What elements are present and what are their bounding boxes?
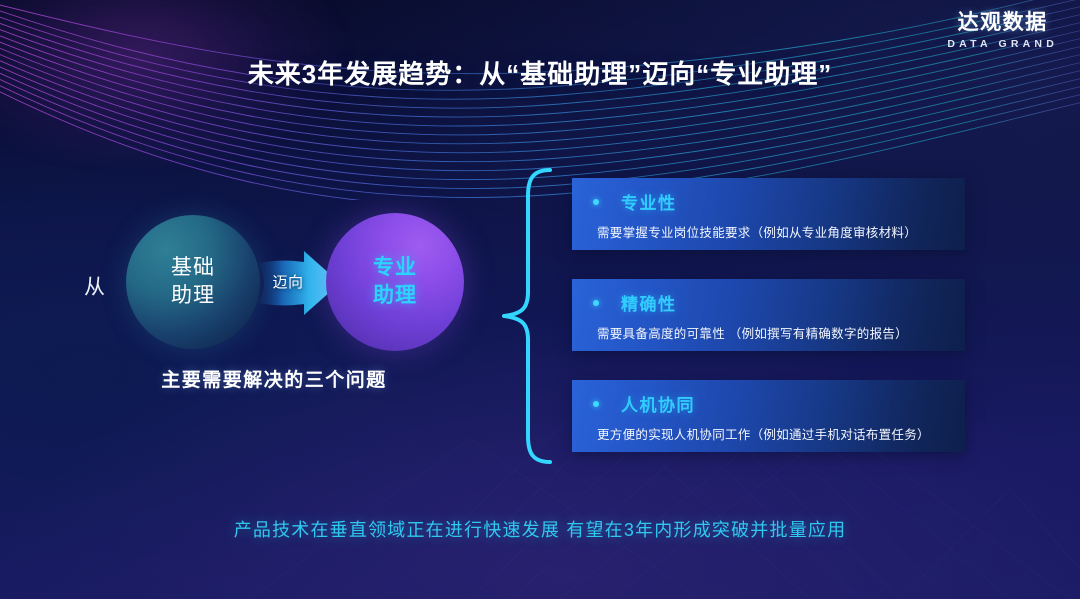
bullet-icon bbox=[593, 199, 599, 205]
card-header: 专业性 bbox=[586, 189, 949, 214]
curly-brace-icon bbox=[498, 166, 556, 466]
from-label: 从 bbox=[84, 271, 106, 301]
brand-logo: 达观数据 DATA GRAND bbox=[947, 12, 1058, 50]
transition-diagram: 从 基础 助理 迈向 专业 助理 bbox=[60, 215, 500, 405]
circle-pro-line1: 专业 bbox=[373, 254, 417, 282]
circle-basic-assistant: 基础 助理 bbox=[126, 215, 260, 349]
diagram-caption: 主要需要解决的三个问题 bbox=[104, 365, 444, 392]
feature-card[interactable]: 精确性 需要具备高度的可靠性 （例如撰写有精确数字的报告） bbox=[572, 279, 965, 351]
circle-basic-line2: 助理 bbox=[171, 282, 215, 310]
feature-card[interactable]: 专业性 需要掌握专业岗位技能要求（例如从专业角度审核材料） bbox=[572, 178, 965, 250]
logo-text-cn: 达观数据 bbox=[947, 12, 1058, 33]
feature-card[interactable]: 人机协同 更方便的实现人机协同工作（例如通过手机对话布置任务） bbox=[572, 380, 965, 452]
arrow-label: 迈向 bbox=[262, 271, 314, 292]
card-description: 需要具备高度的可靠性 （例如撰写有精确数字的报告） bbox=[586, 323, 949, 342]
card-description: 更方便的实现人机协同工作（例如通过手机对话布置任务） bbox=[586, 424, 949, 443]
card-header: 精确性 bbox=[586, 290, 949, 315]
slide-canvas: 达观数据 DATA GRAND 未来3年发展趋势：从“基础助理”迈向“专业助理”… bbox=[0, 0, 1080, 599]
card-description: 需要掌握专业岗位技能要求（例如从专业角度审核材料） bbox=[586, 222, 949, 241]
logo-text-en: DATA GRAND bbox=[947, 39, 1058, 50]
feature-card-list: 专业性 需要掌握专业岗位技能要求（例如从专业角度审核材料） 精确性 需要具备高度… bbox=[572, 178, 965, 452]
circle-basic-line1: 基础 bbox=[171, 254, 215, 282]
bullet-icon bbox=[593, 401, 599, 407]
card-title: 专业性 bbox=[621, 189, 677, 214]
page-title: 未来3年发展趋势：从“基础助理”迈向“专业助理” bbox=[0, 54, 1080, 91]
wave-decoration bbox=[0, 0, 1080, 200]
card-header: 人机协同 bbox=[586, 391, 949, 416]
circle-pro-line2: 助理 bbox=[373, 282, 417, 310]
bullet-icon bbox=[593, 300, 599, 306]
footer-statement: 产品技术在垂直领域正在进行快速发展 有望在3年内形成突破并批量应用 bbox=[0, 516, 1080, 542]
card-title: 精确性 bbox=[621, 290, 677, 315]
card-title: 人机协同 bbox=[621, 391, 695, 416]
circle-professional-assistant: 专业 助理 bbox=[326, 213, 464, 351]
